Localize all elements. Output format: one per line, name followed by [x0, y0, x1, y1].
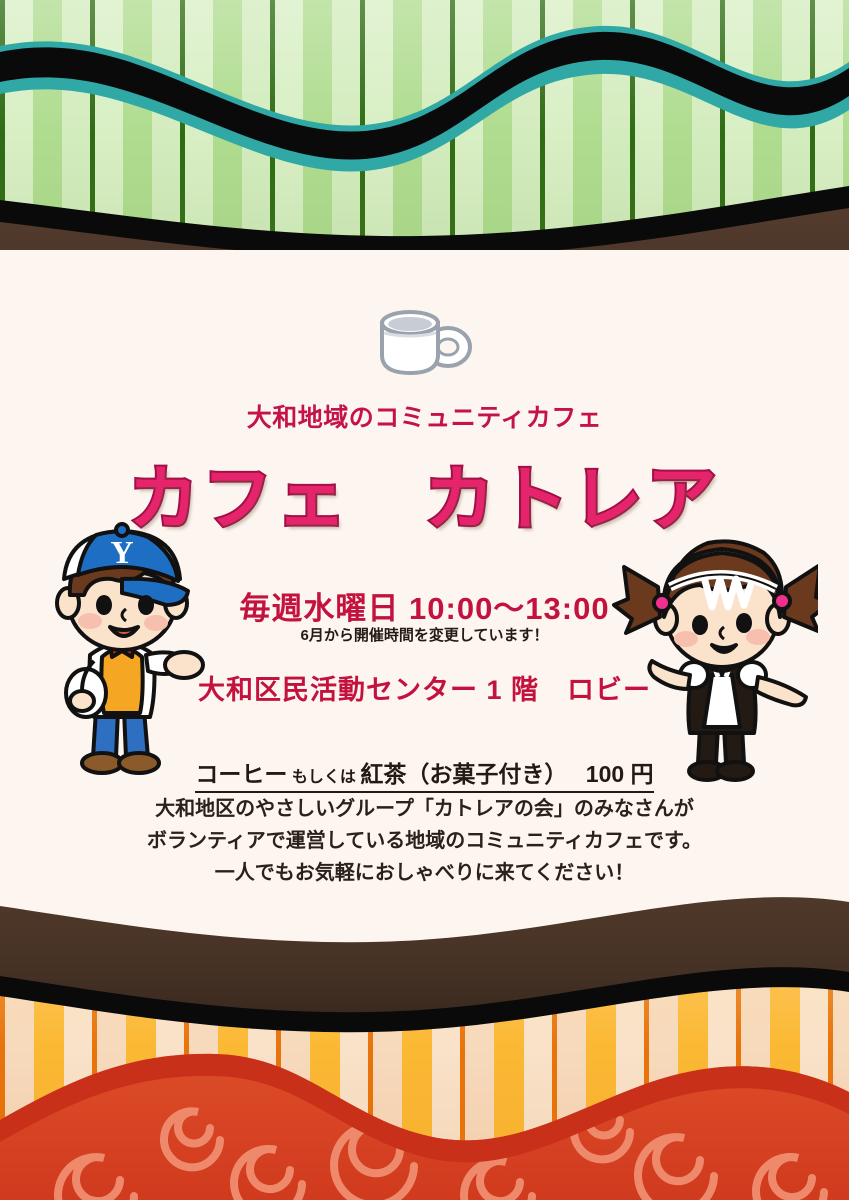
description-line-2: ボランティアで運営している地域のコミュニティカフェです。	[0, 825, 849, 857]
boy-mascot-illustration: Y	[38, 505, 208, 795]
boy-mascot: Y	[38, 505, 208, 800]
price-underline-group: コーヒー もしくは 紅茶（お菓子付き） 100 円	[195, 755, 653, 793]
girl-mascot	[608, 515, 818, 800]
price-conjunction: もしくは	[292, 769, 356, 786]
cafe-flyer-poster: 大和地域のコミュニティカフェ カフェ カトレア 毎週水曜日 10:00〜13:0…	[0, 0, 849, 1200]
description-line-3: 一人でもお気軽におしゃべりに来てください！	[0, 857, 849, 889]
price-item-tea: 紅茶（お菓子付き）	[360, 761, 567, 787]
poster-subtitle: 大和地域のコミュニティカフェ	[0, 398, 849, 434]
coffee-cup-wrap	[0, 303, 849, 383]
price-item-coffee: コーヒー	[195, 761, 287, 787]
strawberry-swirl-layer	[0, 1000, 849, 1200]
coffee-cup-icon	[370, 303, 480, 383]
description-block: 大和地区のやさしいグループ「カトレアの会」のみなさんが ボランティアで運営してい…	[0, 793, 849, 889]
boy-cap-letter: Y	[110, 534, 133, 570]
girl-mascot-illustration	[608, 515, 818, 795]
